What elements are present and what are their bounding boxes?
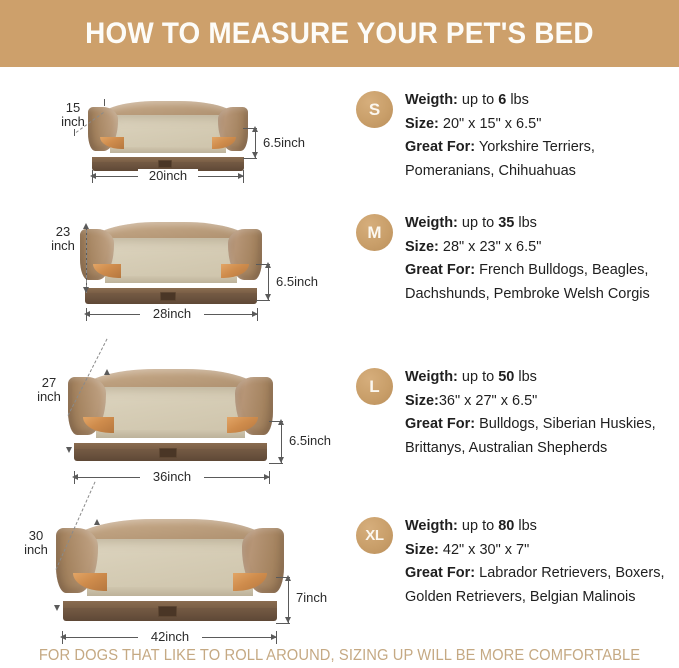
weight-line-xl: Weigth: up to 80 lbs [405,515,664,539]
page-header: HOW TO MEASURE YOUR PET'S BED [0,0,679,67]
weight-unit: lbs [510,92,529,108]
bed-cushion [105,238,237,283]
weight-line-s: Weigth: up to 6 lbs [405,89,595,113]
weight-prefix: up to [462,215,494,231]
dim-width-label-m: 28inch [140,307,204,321]
dim-width-tick-left-m [86,308,87,321]
weight-line-m: Weigth: up to 35 lbs [405,212,650,236]
size-badge-s: S [356,91,393,128]
bed-cushion-edge [96,430,245,438]
size-info-s: S Weigth: up to 6 lbs Size: 20" x 15" x … [356,91,676,187]
dim-width-tick-right-m [257,308,258,321]
footer-note: FOR DOGS THAT LIKE TO ROLL AROUND, SIZIN… [39,647,640,665]
size-label: Size: [405,393,439,409]
page-footer: FOR DOGS THAT LIKE TO ROLL AROUND, SIZIN… [0,647,679,665]
size-info-m: M Weigth: up to 35 lbs Size: 28" x 23" x… [356,214,676,310]
bed-graphic [88,101,248,171]
great-for-label: Great For: [405,416,475,432]
size-badge-xl: XL [356,517,393,554]
size-badge-m: M [356,214,393,251]
size-badge-l: L [356,368,393,405]
size-line-l: Size:36" x 27" x 6.5" [405,390,656,414]
great-for-breeds-1: Yorkshire Terriers, [479,139,595,155]
great-for-label: Great For: [405,262,475,278]
dim-depth-value: 30 [18,529,54,543]
dim-height-arrow-up-l [278,419,284,425]
dim-height-ext-bottom-s [243,158,257,159]
weight-value: 50 [498,369,514,385]
weight-label: Weigth: [405,92,458,108]
dim-width-label-xl: 42inch [138,630,202,644]
dim-depth-label-m: 23 inch [46,225,80,252]
weight-prefix: up to [462,92,494,108]
dim-depth-value: 15 [56,101,90,115]
dim-width-arrow-left-m [84,311,90,317]
bed-illustration-s [88,101,248,171]
size-value: 28" x 23" x 6.5" [443,239,541,255]
size-details-m: Weigth: up to 35 lbs Size: 28" x 23" x 6… [405,212,650,306]
great-for-line1-xl: Great For: Labrador Retrievers, Boxers, [405,562,664,586]
dim-height-ext-top-xl [276,577,290,578]
dim-height-label-s: 6.5inch [263,136,305,150]
great-for-label: Great For: [405,139,475,155]
dim-height-ext-top-s [243,128,257,129]
dim-width-label-s: 20inch [138,169,198,183]
weight-line-l: Weigth: up to 50 lbs [405,366,656,390]
dim-depth-label-l: 27 inch [32,376,66,403]
dim-height-label-m: 6.5inch [276,275,318,289]
bed-graphic [68,369,273,461]
dim-width-arrow-left-xl [60,634,66,640]
dim-height-ext-bottom-xl [276,623,290,624]
size-line-xl: Size: 42" x 30" x 7" [405,539,664,563]
great-for-line2-l: Brittanys, Australian Shepherds [405,437,656,461]
dim-height-arrow-up-m [265,262,271,268]
dim-depth-arrow-up-l [104,369,110,375]
dim-depth-unit: inch [32,390,66,404]
weight-value: 35 [498,215,514,231]
dim-depth-unit: inch [18,543,54,557]
weight-value: 80 [498,518,514,534]
great-for-breeds-1: Bulldogs, Siberian Huskies, [479,416,656,432]
size-row-xl: 30 inch 7inch 42inch XL Weigth: up to 80… [0,505,679,645]
dim-width-arrow-left-l [72,474,78,480]
bed-cushion [110,115,226,153]
dim-width-tick-right-l [269,471,270,484]
weight-label: Weigth: [405,369,458,385]
bed-cushion [96,387,245,438]
dim-depth-arrow-down-m [83,287,89,293]
great-for-line2-xl: Golden Retrievers, Belgian Malinois [405,586,664,610]
dim-width-arrow-left-s [90,173,96,179]
bed-brand-tag [158,606,177,617]
bed-brand-tag [160,292,176,301]
weight-unit: lbs [518,215,537,231]
dim-depth-unit: inch [46,239,80,253]
weight-label: Weigth: [405,215,458,231]
dim-height-ext-top-l [269,421,283,422]
dim-height-ext-bottom-m [256,300,270,301]
size-row-s: 15 inch 6.5inch 20inch S Weigth: up to 6… [0,84,679,194]
size-details-l: Weigth: up to 50 lbs Size:36" x 27" x 6.… [405,366,656,460]
size-info-l: L Weigth: up to 50 lbs Size:36" x 27" x … [356,368,676,464]
great-for-line2-s: Pomeranians, Chihuahuas [405,160,595,184]
dim-depth-arrow-up-xl [94,519,100,525]
bed-cushion-edge [105,276,237,283]
dim-height-ext-top-m [256,264,270,265]
weight-value: 6 [498,92,506,108]
size-details-s: Weigth: up to 6 lbs Size: 20" x 15" x 6.… [405,89,595,183]
great-for-breeds-1: French Bulldogs, Beagles, [479,262,648,278]
weight-prefix: up to [462,369,494,385]
size-row-m: 23 inch 6.5inch 28inch M Weigth: up to 3… [0,206,679,331]
weight-label: Weigth: [405,518,458,534]
size-label: Size: [405,542,439,558]
dim-height-label-xl: 7inch [296,591,327,605]
bed-brand-tag [159,448,177,458]
dim-width-tick-left-xl [62,631,63,644]
dim-depth-tick-top-s [104,99,105,106]
bed-illustration-l [68,369,273,461]
great-for-line1-l: Great For: Bulldogs, Siberian Huskies, [405,413,656,437]
dim-height-label-l: 6.5inch [289,434,331,448]
bed-graphic [80,222,262,304]
dim-width-tick-left-s [92,170,93,183]
size-label: Size: [405,116,439,132]
bed-illustration-xl [56,519,284,621]
dim-depth-arrow-down-l [66,447,72,453]
great-for-label: Great For: [405,565,475,581]
great-for-line2-m: Dachshunds, Pembroke Welsh Corgis [405,283,650,307]
bed-brand-tag [158,160,172,168]
size-row-l: 27 inch 6.5inch 36inch L Weigth: up to 5… [0,355,679,490]
size-line-s: Size: 20" x 15" x 6.5" [405,113,595,137]
dim-depth-tick-bottom-s [74,129,75,136]
weight-prefix: up to [462,518,494,534]
dim-height-arrow-up-xl [285,575,291,581]
great-for-line1-m: Great For: French Bulldogs, Beagles, [405,259,650,283]
dim-height-ext-bottom-l [269,463,283,464]
bed-graphic [56,519,284,621]
bed-illustration-m [80,222,262,304]
dim-depth-value: 23 [46,225,80,239]
size-value: 36" x 27" x 6.5" [439,393,537,409]
dim-depth-line-m [86,225,87,293]
dim-depth-label-xl: 30 inch [18,529,54,556]
bed-cushion [87,539,253,596]
dim-height-arrow-up-s [252,126,258,132]
weight-unit: lbs [518,518,537,534]
great-for-breeds-1: Labrador Retrievers, Boxers, [479,565,664,581]
size-line-m: Size: 28" x 23" x 6.5" [405,236,650,260]
dim-width-tick-left-l [74,471,75,484]
weight-unit: lbs [518,369,537,385]
page-title: HOW TO MEASURE YOUR PET'S BED [85,17,594,51]
size-details-xl: Weigth: up to 80 lbs Size: 42" x 30" x 7… [405,515,664,609]
bed-cushion-edge [110,147,226,153]
dim-width-tick-right-xl [276,631,277,644]
bed-cushion-edge [87,587,253,596]
dim-depth-arrow-up-m [83,223,89,229]
dim-depth-value: 27 [32,376,66,390]
size-value: 42" x 30" x 7" [443,542,529,558]
dim-width-label-l: 36inch [140,470,204,484]
great-for-line1-s: Great For: Yorkshire Terriers, [405,136,595,160]
size-label: Size: [405,239,439,255]
size-value: 20" x 15" x 6.5" [443,116,541,132]
size-info-xl: XL Weigth: up to 80 lbs Size: 42" x 30" … [356,517,676,613]
dim-depth-arrow-down-xl [54,605,60,611]
dim-width-tick-right-s [243,170,244,183]
